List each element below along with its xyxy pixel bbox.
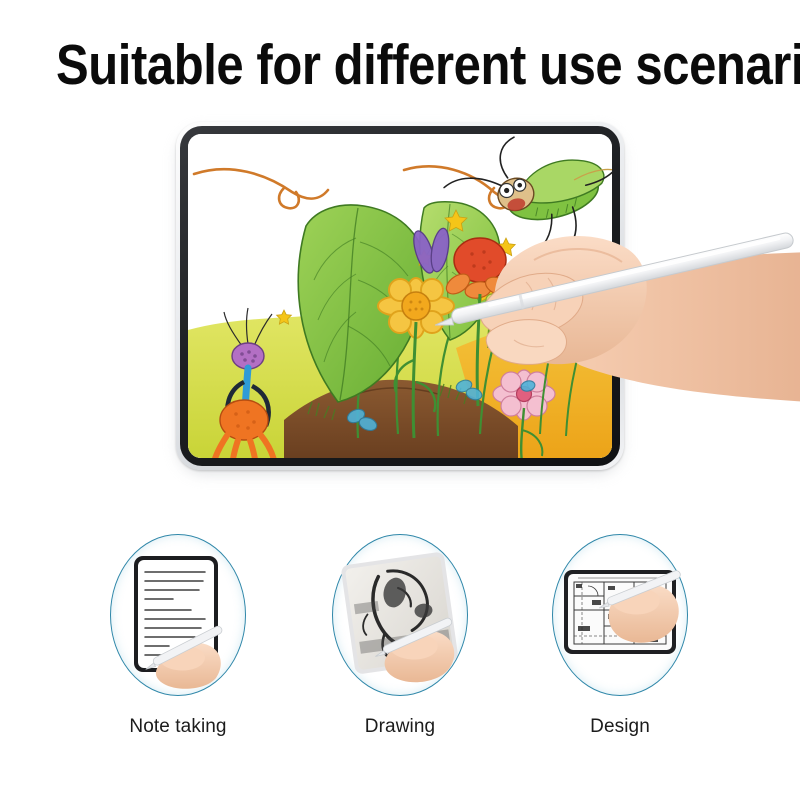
tablet-blueprint-icon — [558, 540, 682, 690]
watercolor-artwork-icon — [188, 134, 612, 458]
scenario-label: Note taking — [78, 716, 278, 738]
scenario-label: Drawing — [300, 716, 500, 738]
scenario-list: Note taking — [0, 528, 800, 728]
page-title: Suitable for different use scenarios — [56, 36, 744, 94]
tablet-sketch-icon — [338, 540, 462, 690]
tablet-notes-icon — [116, 540, 240, 690]
scenario-item-note-taking[interactable]: Note taking — [78, 528, 278, 728]
tablet-screen — [188, 134, 612, 458]
scenario-label: Design — [520, 716, 720, 738]
scenario-item-drawing[interactable]: Drawing — [300, 528, 500, 728]
scenario-item-design[interactable]: Design — [520, 528, 720, 728]
hero-tablet — [176, 122, 624, 470]
